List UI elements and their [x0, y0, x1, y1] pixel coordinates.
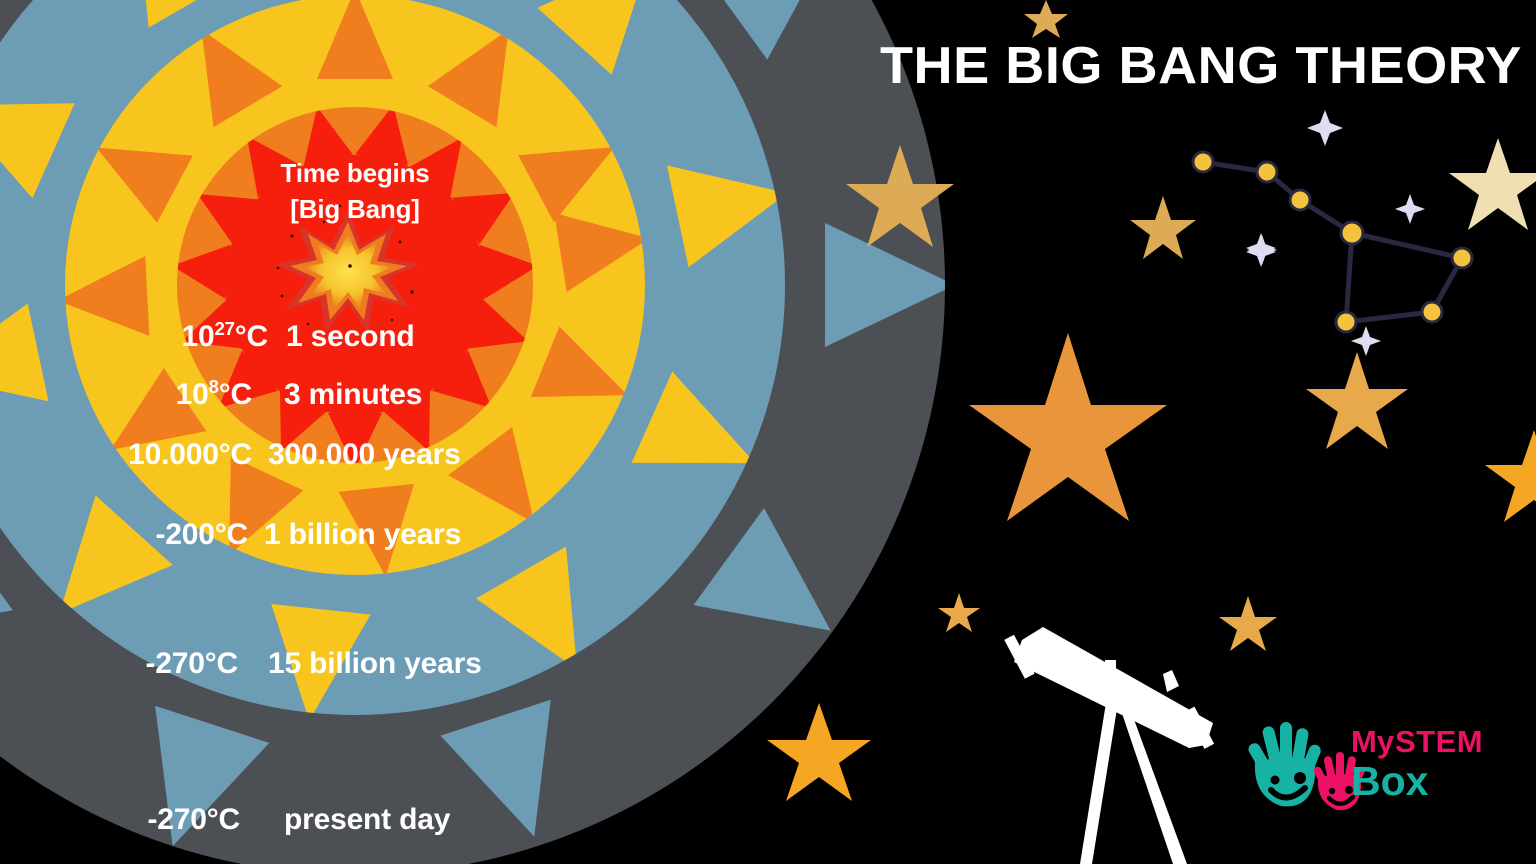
- constellation-star: [1290, 190, 1310, 210]
- constellation-star: [1336, 312, 1356, 332]
- timeline-event-2: 300.000 years: [268, 438, 461, 472]
- constellation-star: [1452, 248, 1472, 268]
- timeline-event-4: 15 billion years: [268, 647, 482, 681]
- timeline-temp-3: -200°C: [90, 518, 248, 552]
- my-stem-box-logo[interactable]: My STEM Box: [1243, 718, 1468, 818]
- timeline-temp-5: -270°C: [80, 803, 240, 837]
- logo-text-box: Box: [1351, 758, 1428, 805]
- teal-hand-icon: [1246, 722, 1322, 806]
- timeline-event-3: 1 billion years: [264, 518, 461, 552]
- timeline-temp-0: 1027°C: [118, 320, 268, 354]
- timeline-event-5: present day: [284, 803, 450, 837]
- timeline-temp-1: 108°C: [122, 378, 252, 412]
- constellation-star: [1257, 162, 1277, 182]
- infographic-canvas: THE BIG BANG THEORY 1027°C 1 second 108°…: [0, 0, 1536, 864]
- timeline-temp-4: -270°C: [78, 647, 238, 681]
- constellation-star: [1341, 222, 1363, 244]
- constellation-star: [1422, 302, 1442, 322]
- logo-text-my: My: [1351, 724, 1394, 760]
- timeline-event-0: 1 second: [286, 320, 414, 354]
- constellation-star: [1193, 152, 1213, 172]
- timeline-temp-2: 10.000°C: [60, 438, 252, 472]
- timeline-event-1: 3 minutes: [284, 378, 422, 412]
- logo-text-stem: STEM: [1395, 724, 1483, 760]
- big-bang-label-line1: Time begins: [270, 158, 440, 189]
- big-bang-label-line2: [Big Bang]: [270, 194, 440, 225]
- page-title: THE BIG BANG THEORY: [880, 36, 1522, 96]
